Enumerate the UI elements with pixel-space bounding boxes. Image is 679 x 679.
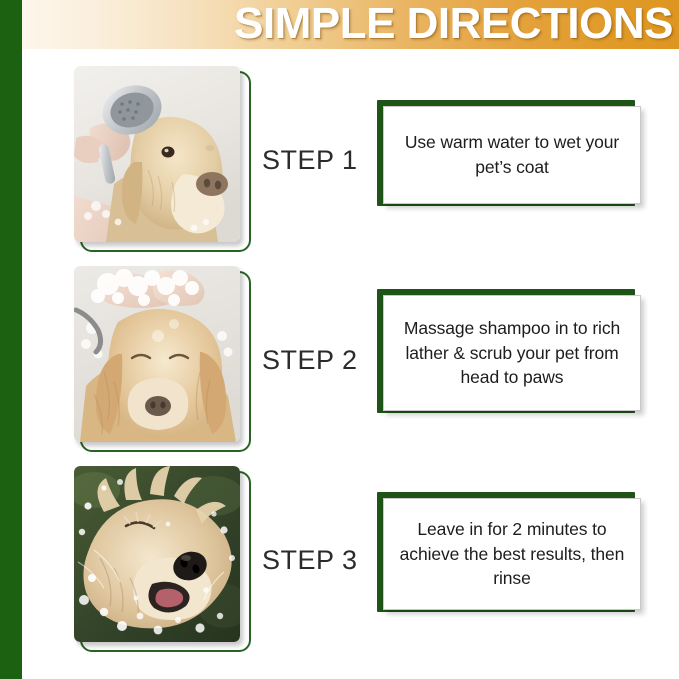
step-label-1: STEP 1: [262, 60, 382, 260]
simple-directions-infographic: SIMPLE DIRECTIONS: [0, 0, 679, 679]
step-photo-frame: [74, 266, 251, 452]
instruction-panel: Use warm water to wet your pet’s coat: [383, 106, 641, 204]
step-row: STEP 2 Massage shampoo in to rich lather…: [22, 260, 679, 460]
step-row: STEP 1 Use warm water to wet your pet’s …: [22, 60, 679, 260]
dog-shaking-off-water-image: [74, 466, 240, 642]
instruction-panel: Massage shampoo in to rich lather & scru…: [383, 295, 641, 411]
photo-card: [74, 266, 240, 442]
step-label-2: STEP 2: [262, 260, 382, 460]
instruction-panel: Leave in for 2 minutes to achieve the be…: [383, 498, 641, 610]
instruction-text-3: Leave in for 2 minutes to achieve the be…: [398, 517, 626, 592]
instruction-card-3: Leave in for 2 minutes to achieve the be…: [377, 492, 647, 612]
page-title: SIMPLE DIRECTIONS: [234, 2, 673, 46]
steps-container: STEP 1 Use warm water to wet your pet’s …: [22, 49, 679, 679]
left-accent-bar: [0, 0, 22, 679]
instruction-text-1: Use warm water to wet your pet’s coat: [398, 130, 626, 180]
instruction-card-1: Use warm water to wet your pet’s coat: [377, 100, 647, 206]
step-row: STEP 3 Leave in for 2 minutes to achieve…: [22, 460, 679, 660]
photo-card: [74, 66, 240, 242]
photo-card: [74, 466, 240, 642]
dog-being-rinsed-with-showerhead-image: [74, 66, 240, 242]
instruction-text-2: Massage shampoo in to rich lather & scru…: [398, 316, 626, 391]
step-label-3: STEP 3: [262, 460, 382, 660]
header-banner: SIMPLE DIRECTIONS: [22, 0, 679, 49]
dog-being-shampooed-lather-image: [74, 266, 240, 442]
step-photo-frame: [74, 466, 251, 652]
step-photo-frame: [74, 66, 251, 252]
instruction-card-2: Massage shampoo in to rich lather & scru…: [377, 289, 647, 413]
